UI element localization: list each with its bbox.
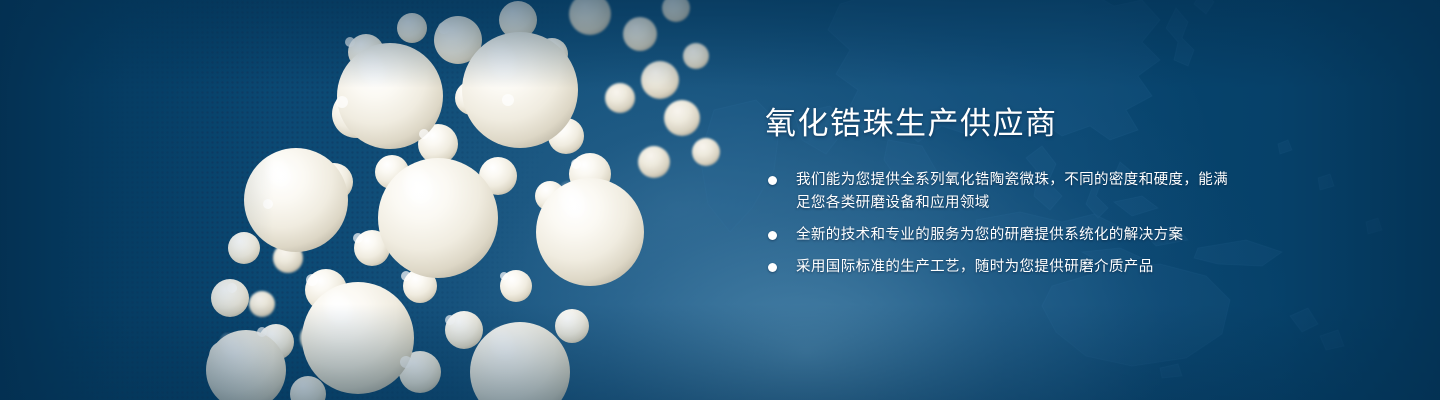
bullet-dot-icon: [768, 263, 777, 272]
bullet-dot-icon: [768, 176, 777, 185]
list-item-label: 全新的技术和专业的服务为您的研磨提供系统化的解决方案: [796, 224, 1235, 247]
list-item-label: 我们能为您提供全系列氧化锆陶瓷微珠，不同的密度和硬度，能满足您各类研磨设备和应用…: [796, 169, 1235, 215]
bullet-dot-icon: [768, 231, 777, 240]
hero-banner: 氧化锆珠生产供应商 我们能为您提供全系列氧化锆陶瓷微珠，不同的密度和硬度，能满足…: [0, 0, 1440, 400]
list-item: 采用国际标准的生产工艺，随时为您提供研磨介质产品: [765, 256, 1235, 279]
banner-copy: 氧化锆珠生产供应商 我们能为您提供全系列氧化锆陶瓷微珠，不同的密度和硬度，能满足…: [765, 106, 1235, 279]
feature-list: 我们能为您提供全系列氧化锆陶瓷微珠，不同的密度和硬度，能满足您各类研磨设备和应用…: [765, 169, 1235, 279]
page-title: 氧化锆珠生产供应商: [765, 106, 1235, 143]
list-item: 我们能为您提供全系列氧化锆陶瓷微珠，不同的密度和硬度，能满足您各类研磨设备和应用…: [765, 169, 1235, 215]
list-item-label: 采用国际标准的生产工艺，随时为您提供研磨介质产品: [796, 256, 1235, 279]
list-item: 全新的技术和专业的服务为您的研磨提供系统化的解决方案: [765, 224, 1235, 247]
